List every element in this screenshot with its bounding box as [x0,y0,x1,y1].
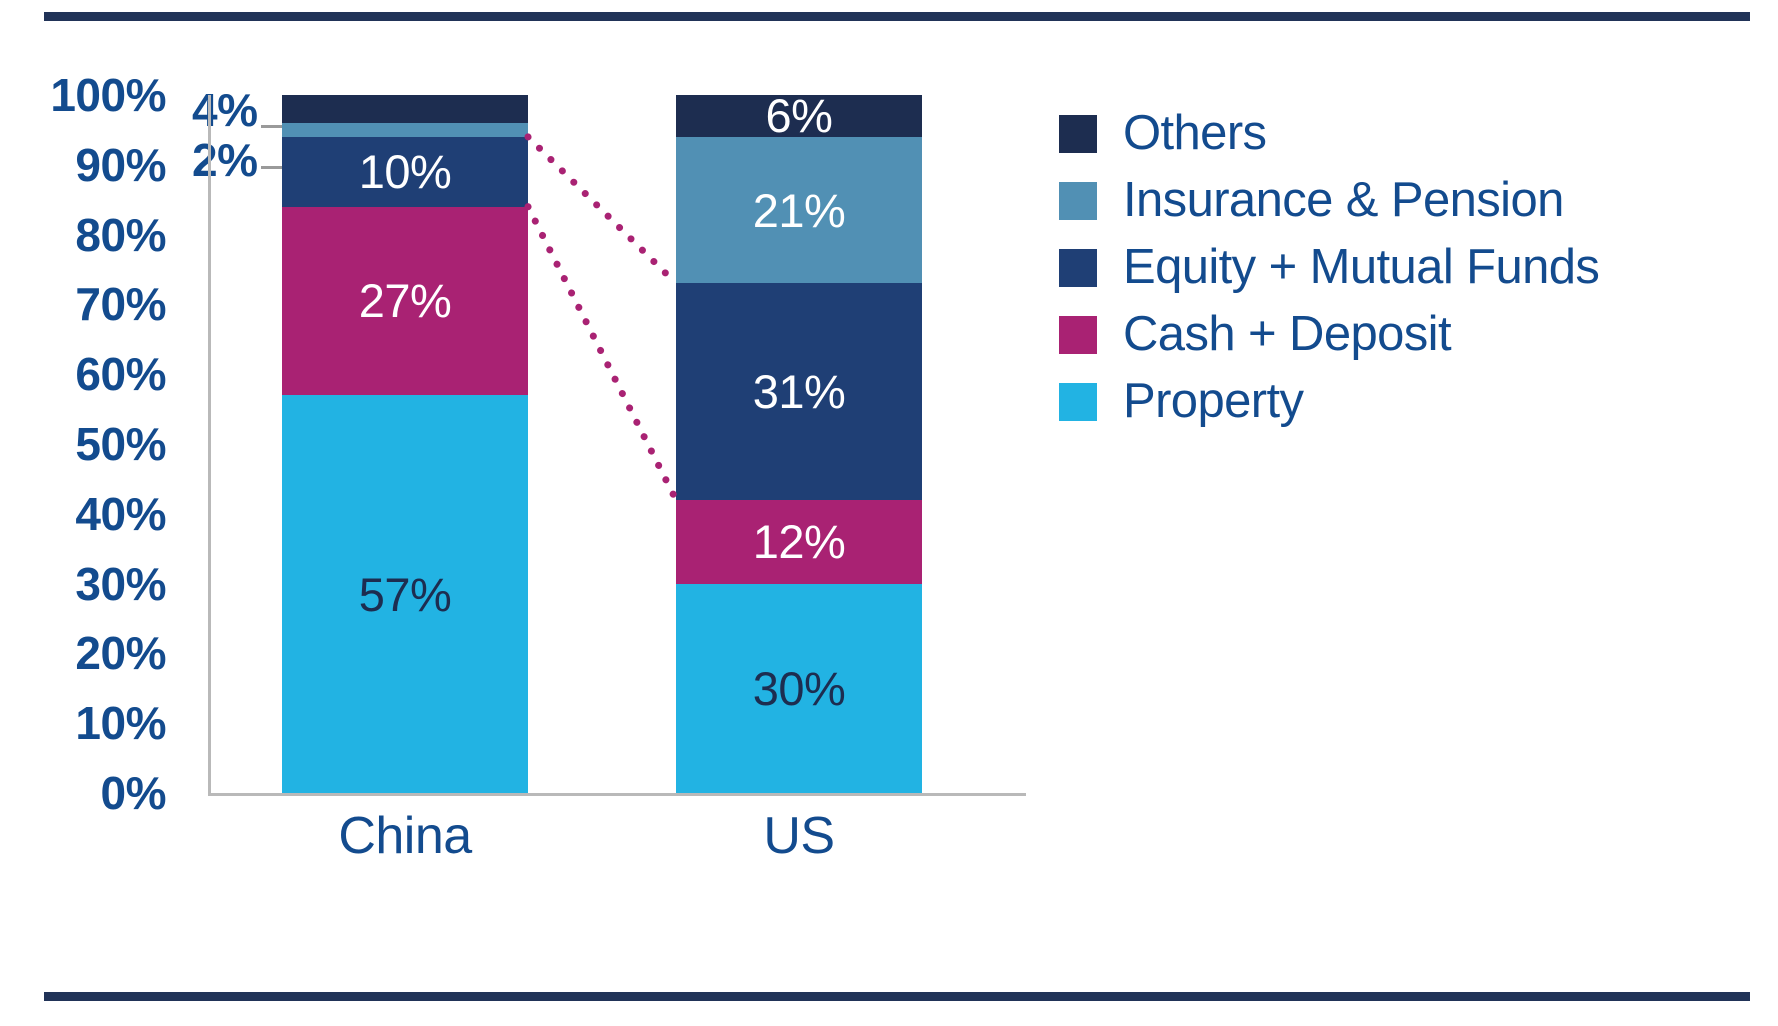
legend-label-others: Others [1123,109,1266,158]
chart-canvas: 100%90%80%70%60%50%40%30%20%10%0% 4% 2% … [0,0,1778,1026]
bottom-divider-rule [44,992,1750,1001]
bar-segment-us-others[interactable]: 6% [676,95,922,137]
bar-segment-us-insurance-pension[interactable]: 21% [676,137,922,284]
bar-segment-value-label: 27% [359,277,452,324]
bar-segment-china-equity-mutual-funds[interactable]: 10% [282,137,528,207]
legend-swatch-icon-equity-mutual-funds [1059,249,1097,287]
bar-segment-value-label: 57% [359,571,452,618]
y-axis-tick-40: 40% [75,487,166,541]
y-axis-tick-10: 10% [75,696,166,750]
y-axis-tick-0: 0% [101,766,166,820]
legend-item-property[interactable]: Property [1059,368,1749,435]
legend-swatch-icon-insurance-pension [1059,182,1097,220]
plot-area: 10%27%57% 6%21%31%12%30% [208,95,1026,793]
chart-legend: OthersInsurance & PensionEquity + Mutual… [1059,100,1749,435]
legend-label-equity-mutual-funds: Equity + Mutual Funds [1123,243,1599,292]
bar-segment-us-property[interactable]: 30% [676,584,922,793]
bar-segment-value-label: 12% [753,518,846,565]
legend-label-property: Property [1123,377,1303,426]
legend-swatch-icon-cash-deposit [1059,316,1097,354]
legend-item-cash-deposit[interactable]: Cash + Deposit [1059,301,1749,368]
y-axis-tick-30: 30% [75,557,166,611]
y-axis-line [208,95,211,793]
y-axis-tick-20: 20% [75,626,166,680]
legend-item-others[interactable]: Others [1059,100,1749,167]
legend-swatch-icon-property [1059,383,1097,421]
bar-segment-china-insurance-pension[interactable] [282,123,528,137]
y-axis-tick-70: 70% [75,277,166,331]
bar-segment-us-equity-mutual-funds[interactable]: 31% [676,283,922,499]
stacked-bar-us[interactable]: 6%21%31%12%30% [676,95,922,793]
y-axis-tick-90: 90% [75,138,166,192]
legend-item-equity-mutual-funds[interactable]: Equity + Mutual Funds [1059,234,1749,301]
bar-segment-us-cash-deposit[interactable]: 12% [676,500,922,584]
legend-label-insurance-pension: Insurance & Pension [1123,176,1564,225]
y-axis-tick-80: 80% [75,208,166,262]
y-axis-tick-labels: 100%90%80%70%60%50%40%30%20%10%0% [0,95,190,793]
bar-segment-value-label: 6% [766,92,833,139]
bar-segment-value-label: 21% [753,187,846,234]
x-axis-label-us: US [676,806,922,866]
legend-item-insurance-pension[interactable]: Insurance & Pension [1059,167,1749,234]
x-axis-line [208,793,1026,796]
bar-segment-china-property[interactable]: 57% [282,395,528,793]
legend-swatch-icon-others [1059,115,1097,153]
bar-segment-china-cash-deposit[interactable]: 27% [282,207,528,395]
y-axis-tick-100: 100% [50,68,166,122]
stacked-bar-china[interactable]: 10%27%57% [282,95,528,793]
legend-label-cash-deposit: Cash + Deposit [1123,310,1451,359]
y-axis-tick-60: 60% [75,347,166,401]
bar-segment-value-label: 30% [753,665,846,712]
bar-segment-value-label: 31% [753,368,846,415]
y-axis-tick-50: 50% [75,417,166,471]
top-divider-rule [44,12,1750,21]
bar-segment-value-label: 10% [359,148,452,195]
bar-segment-china-others[interactable] [282,95,528,123]
x-axis-label-china: China [282,806,528,866]
